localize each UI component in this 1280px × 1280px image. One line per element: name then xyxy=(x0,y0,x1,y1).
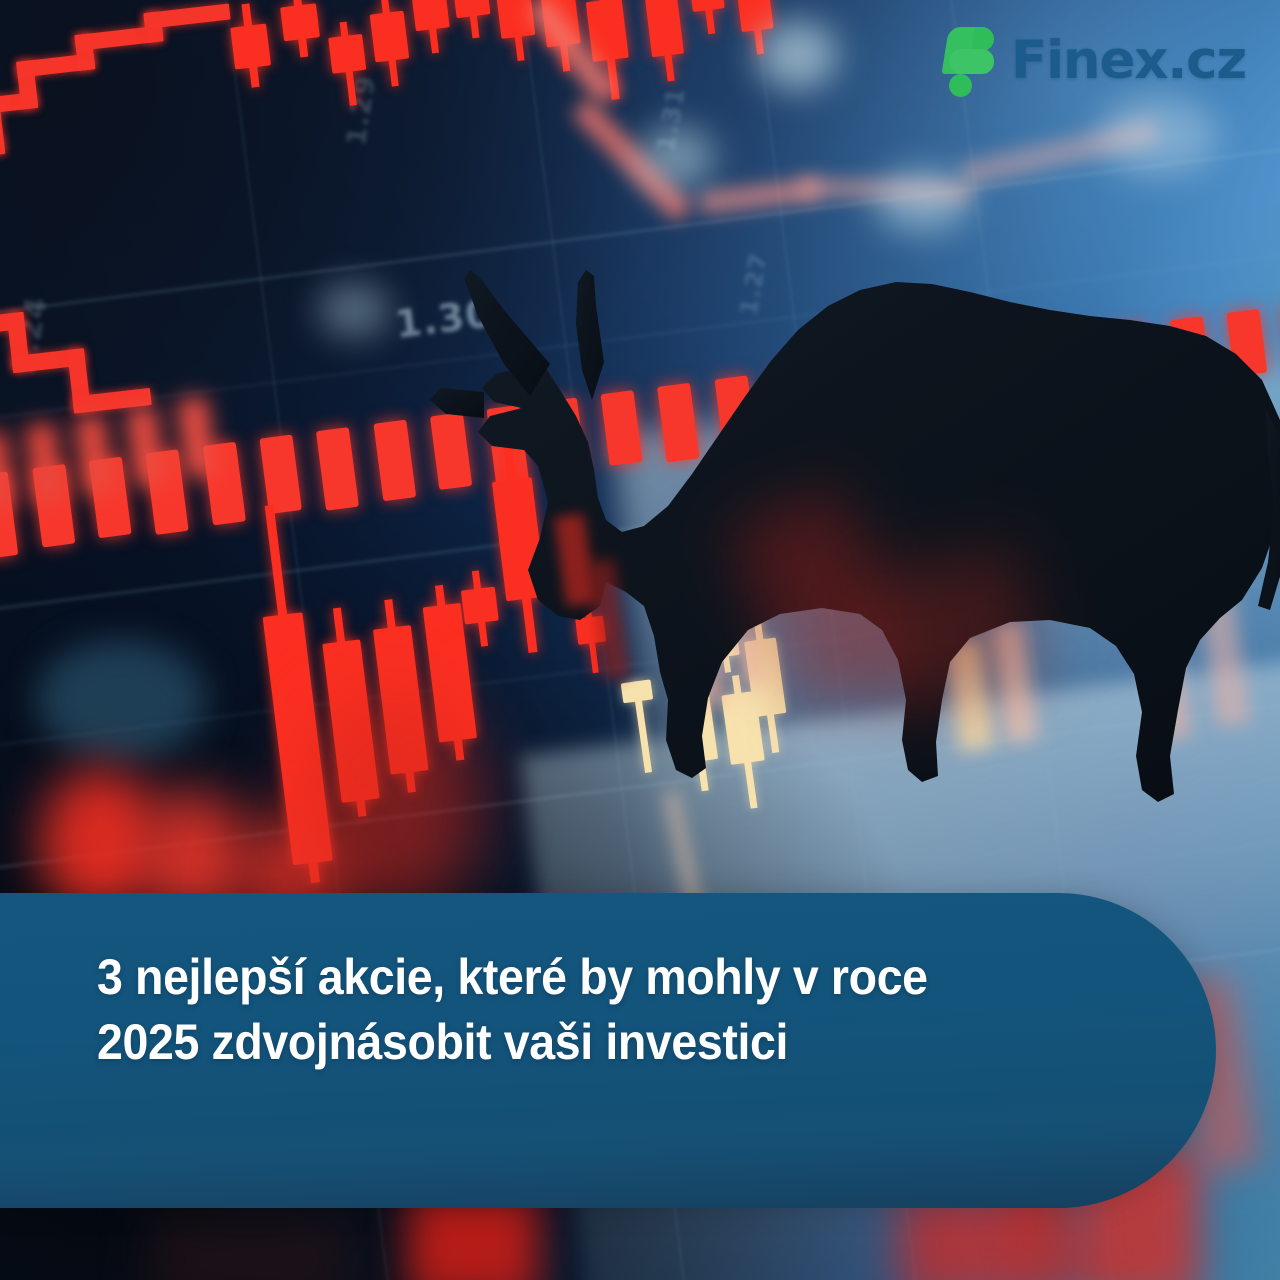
bokeh-light xyxy=(874,170,970,232)
logo-mark-dot xyxy=(949,74,972,97)
finex-logo[interactable]: Finex.cz xyxy=(936,24,1246,96)
floor-shadow xyxy=(150,1216,350,1280)
bokeh-light xyxy=(36,640,206,760)
page-title: 3 nejlepší akcie, které by mohly v roce … xyxy=(97,945,934,1075)
bokeh-light xyxy=(1098,96,1218,176)
logo-wordmark: Finex.cz xyxy=(1011,34,1246,87)
headline-banner: 3 nejlepší akcie, které by mohly v roce … xyxy=(0,893,1216,1208)
finex-f-logo-icon xyxy=(936,24,994,96)
bokeh-light xyxy=(318,282,390,338)
bokeh-light xyxy=(756,20,838,90)
bull-body-screen-glow xyxy=(849,546,1041,713)
bokeh-light xyxy=(636,126,716,190)
social-media-promo-card: 1.30 1.29 1.31 1.27 1.24 xyxy=(0,0,1280,1280)
logo-mark-middle-bar xyxy=(949,49,994,74)
headline-banner-content: 3 nejlepší akcie, které by mohly v roce … xyxy=(97,945,997,1075)
